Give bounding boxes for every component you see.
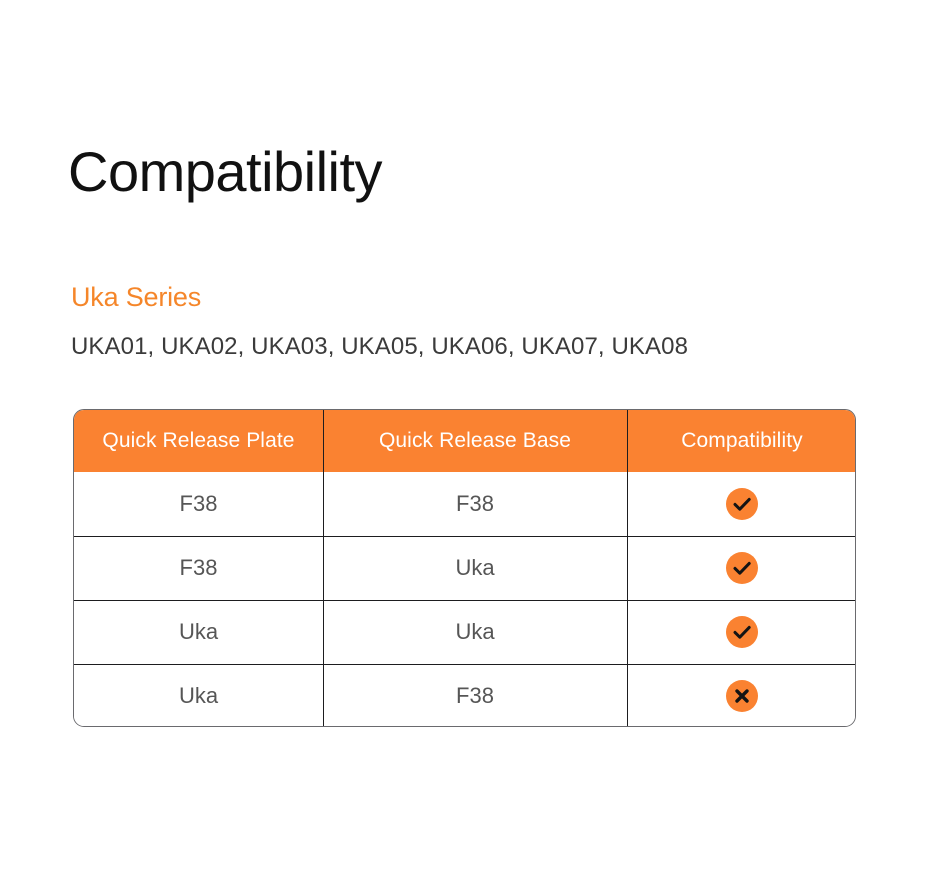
cell-base: Uka xyxy=(323,536,627,600)
compatibility-page: Compatibility Uka Series UKA01, UKA02, U… xyxy=(0,0,930,869)
cell-compatibility xyxy=(627,600,856,664)
series-heading: Uka Series xyxy=(71,279,201,315)
table-row: F38 Uka xyxy=(74,536,856,600)
cell-plate: F38 xyxy=(74,536,323,600)
cell-base: F38 xyxy=(323,472,627,536)
cell-plate: Uka xyxy=(74,664,323,727)
status-badge xyxy=(726,552,758,584)
cell-plate: F38 xyxy=(74,472,323,536)
table-row: Uka F38 xyxy=(74,664,856,727)
column-header-quick-release-plate: Quick Release Plate xyxy=(74,410,323,472)
table-row: F38 F38 xyxy=(74,472,856,536)
cell-plate: Uka xyxy=(74,600,323,664)
cell-base: F38 xyxy=(323,664,627,727)
table-row: Uka Uka xyxy=(74,600,856,664)
column-header-quick-release-base: Quick Release Base xyxy=(323,410,627,472)
series-model-list: UKA01, UKA02, UKA03, UKA05, UKA06, UKA07… xyxy=(71,331,688,363)
compatibility-table: Quick Release Plate Quick Release Base C… xyxy=(73,409,856,727)
status-badge xyxy=(726,616,758,648)
cell-compatibility xyxy=(627,536,856,600)
status-badge xyxy=(726,488,758,520)
cell-compatibility xyxy=(627,472,856,536)
status-badge xyxy=(726,680,758,712)
cell-base: Uka xyxy=(323,600,627,664)
page-title: Compatibility xyxy=(68,140,382,204)
column-header-compatibility: Compatibility xyxy=(627,410,856,472)
cell-compatibility xyxy=(627,664,856,727)
table-header-row: Quick Release Plate Quick Release Base C… xyxy=(74,410,856,472)
